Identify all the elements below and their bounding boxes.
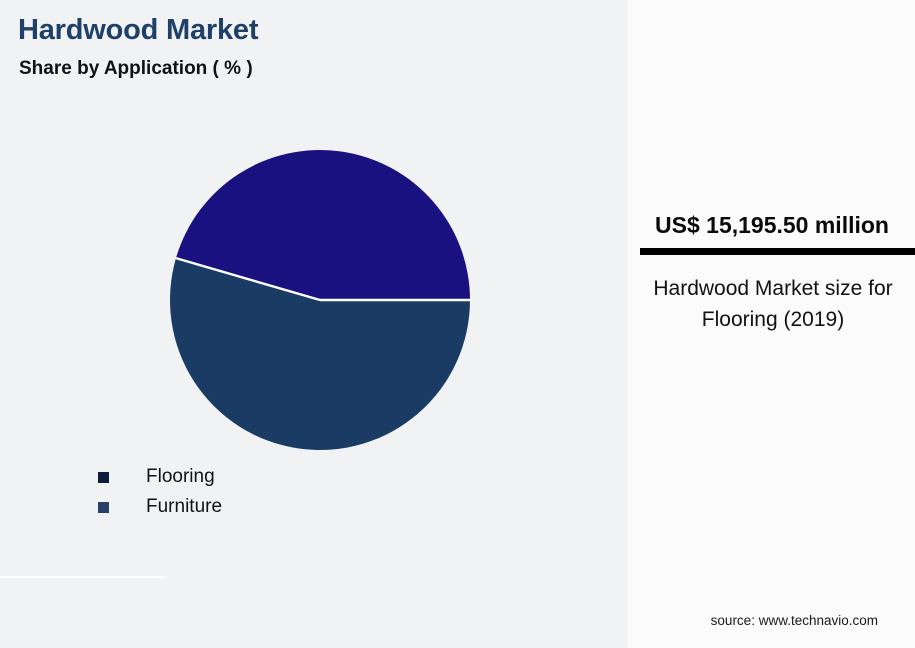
legend-label-furniture: Furniture	[146, 496, 222, 518]
kpi-divider	[640, 248, 915, 255]
baseline-divider	[0, 576, 166, 578]
pie-chart	[170, 150, 470, 450]
source-note: source: www.technavio.com	[628, 613, 915, 628]
pie-chart-svg	[170, 150, 470, 450]
chart-subtitle: Share by Application ( % )	[19, 58, 253, 80]
kpi-value: US$ 15,195.50 million	[628, 212, 915, 239]
legend-swatch-furniture	[98, 502, 109, 513]
legend-item-flooring[interactable]: Flooring	[98, 462, 518, 492]
legend-item-furniture[interactable]: Furniture	[98, 492, 518, 522]
chart-legend: Flooring Furniture	[98, 462, 518, 522]
chart-canvas: Hardwood Market Share by Application ( %…	[0, 0, 915, 648]
kpi-panel: US$ 15,195.50 million Hardwood Market si…	[627, 0, 915, 648]
legend-label-flooring: Flooring	[146, 466, 215, 488]
page-title: Hardwood Market	[18, 14, 258, 47]
legend-swatch-flooring	[98, 472, 109, 483]
chart-panel: Hardwood Market Share by Application ( %…	[0, 0, 627, 648]
kpi-caption: Hardwood Market size for Flooring (2019)	[642, 273, 904, 335]
